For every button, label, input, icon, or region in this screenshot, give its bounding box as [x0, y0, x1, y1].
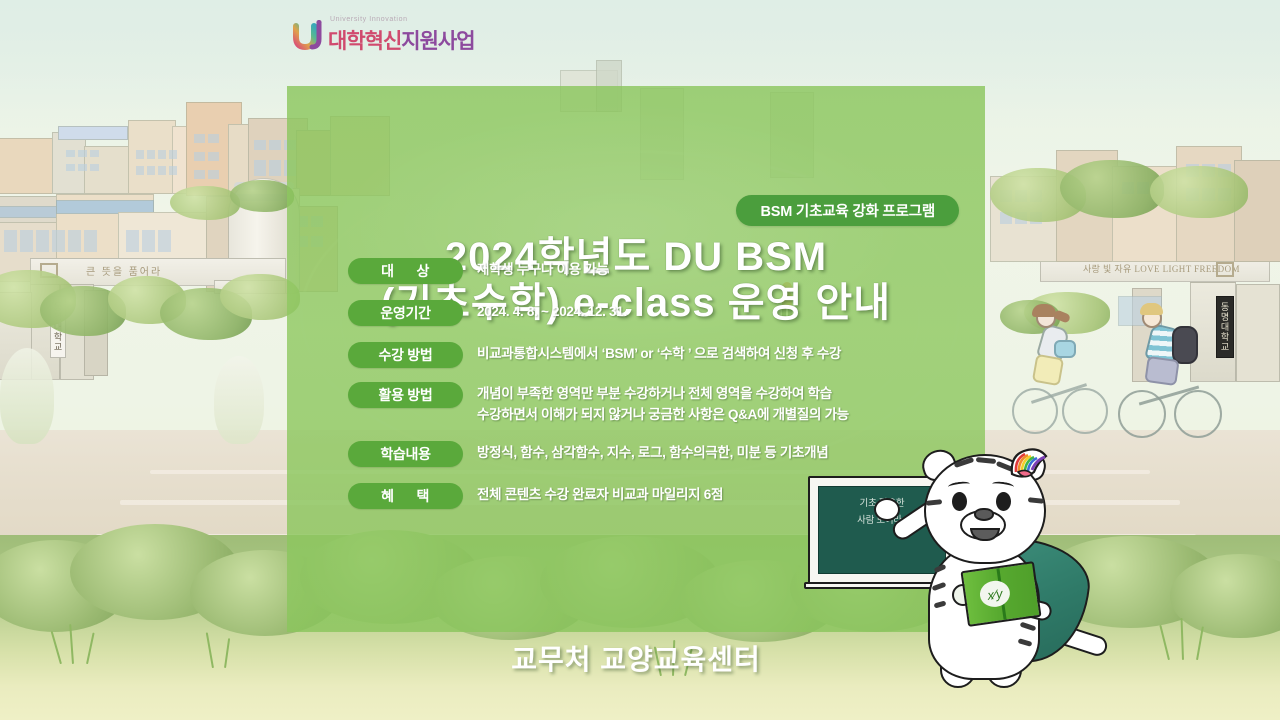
logo-korean-part1: 대학혁신	[328, 30, 401, 53]
gate-emblem-right	[1216, 262, 1234, 277]
window-row	[126, 230, 171, 252]
info-row-label-a: 대	[381, 261, 394, 281]
info-row-value-line: 전체 콘텐츠 수강 완료자 비교과 마일리지 6점	[477, 485, 723, 506]
info-row-label: 대 상	[348, 258, 463, 284]
bush	[170, 186, 240, 220]
university-innovation-logo: University Innovation 대학혁신지원사업	[292, 15, 464, 55]
info-row-label-b: 택	[417, 486, 430, 506]
tree	[214, 356, 264, 444]
bush	[1150, 166, 1248, 218]
info-row-value: 전체 콘텐츠 수강 완료자 비교과 마일리지 6점	[477, 483, 723, 506]
tree	[0, 348, 54, 444]
tiger-eye	[952, 492, 967, 511]
info-row: 활용 방법 개념이 부족한 영역만 부분 수강하거나 전체 영역을 수강하여 학…	[348, 382, 948, 426]
info-row-label: 활용 방법	[348, 382, 463, 408]
window-row	[136, 150, 177, 159]
info-row-value-line: 재학생 누구나 이용 가능	[477, 260, 609, 281]
gate-right-banner: 동명대학교	[1216, 296, 1234, 358]
tiger-rainbow-ribbon	[1008, 448, 1050, 482]
tiger-nose	[974, 508, 994, 521]
info-row-label: 수강 방법	[348, 342, 463, 368]
window-row	[66, 164, 99, 171]
tiger-eye	[996, 492, 1011, 511]
info-row: 운영기간 2024. 4. 8. ~ 2024. 12. 31.	[348, 300, 948, 326]
info-row-value: 개념이 부족한 영역만 부분 수강하거나 전체 영역을 수강하여 학습 수강하면…	[477, 382, 849, 426]
info-row-value-line: 방정식, 함수, 삼각함수, 지수, 로그, 함수의극한, 미분 등 기초개념	[477, 443, 828, 464]
info-row: 학습내용 방정식, 함수, 삼각함수, 지수, 로그, 함수의극한, 미분 등 …	[348, 441, 948, 467]
info-row-value: 방정식, 함수, 삼각함수, 지수, 로그, 함수의극한, 미분 등 기초개념	[477, 441, 828, 464]
info-rows: 대 상 재학생 누구나 이용 가능 운영기간 2024. 4. 8. ~ 202…	[348, 258, 948, 509]
info-row-value-line: 수강하면서 이해가 되지 않거나 궁금한 사항은 Q&A에 개별질의 가능	[477, 405, 849, 426]
info-row-value-line: 2024. 4. 8. ~ 2024. 12. 31.	[477, 302, 627, 323]
building-block	[1234, 160, 1280, 262]
tiger-paw-raised	[874, 498, 900, 521]
info-row-value: 재학생 누구나 이용 가능	[477, 258, 609, 281]
book-xy-label: x⁄y	[978, 579, 1011, 609]
window-row	[66, 150, 99, 157]
info-row-value-line: 개념이 부족한 영역만 부분 수강하거나 전체 영역을 수강하여 학습	[477, 384, 849, 405]
window-row	[194, 152, 219, 161]
info-row-label-b: 상	[417, 261, 430, 281]
info-row-value-line: 비교과통합시스템에서 ‘BSM’ or ‘수학 ’ 으로 검색하여 신청 후 수…	[477, 344, 841, 365]
window-row	[136, 166, 177, 175]
organization-name: 교무처 교양교육센터	[287, 638, 985, 678]
logo-english-text: University Innovation	[330, 16, 408, 23]
building-block	[52, 132, 86, 194]
info-row: 수강 방법 비교과통합시스템에서 ‘BSM’ or ‘수학 ’ 으로 검색하여 …	[348, 342, 948, 368]
window-row	[194, 134, 219, 143]
info-row-label-a: 혜	[381, 486, 394, 506]
gate-pillar	[1236, 284, 1280, 382]
info-row-label: 혜 택	[348, 483, 463, 509]
info-row-value: 2024. 4. 8. ~ 2024. 12. 31.	[477, 300, 627, 323]
info-row-label: 학습내용	[348, 441, 463, 467]
university-innovation-u-mark	[292, 20, 326, 52]
poster-canvas: 큰 뜻을 품어라 동명대학교 사랑 빛 자유 LOVE LIGHT FREEDO…	[0, 0, 1280, 720]
info-row: 대 상 재학생 누구나 이용 가능	[348, 258, 948, 284]
tiger-book: x⁄y	[960, 561, 1041, 627]
bush	[1060, 160, 1164, 218]
window-row	[4, 230, 97, 252]
white-tiger-mascot: x⁄y	[900, 448, 1130, 698]
program-badge: BSM 기초교육 강화 프로그램	[736, 195, 959, 226]
bush	[230, 180, 294, 212]
info-row-value: 비교과통합시스템에서 ‘BSM’ or ‘수학 ’ 으로 검색하여 신청 후 수…	[477, 342, 841, 365]
building-block	[0, 138, 56, 194]
logo-korean-part2: 지원사업	[401, 30, 474, 53]
window-row	[194, 170, 219, 179]
logo-korean-text: 대학혁신지원사업	[328, 25, 475, 55]
info-row-label: 운영기간	[348, 300, 463, 326]
building-roof	[58, 126, 128, 140]
